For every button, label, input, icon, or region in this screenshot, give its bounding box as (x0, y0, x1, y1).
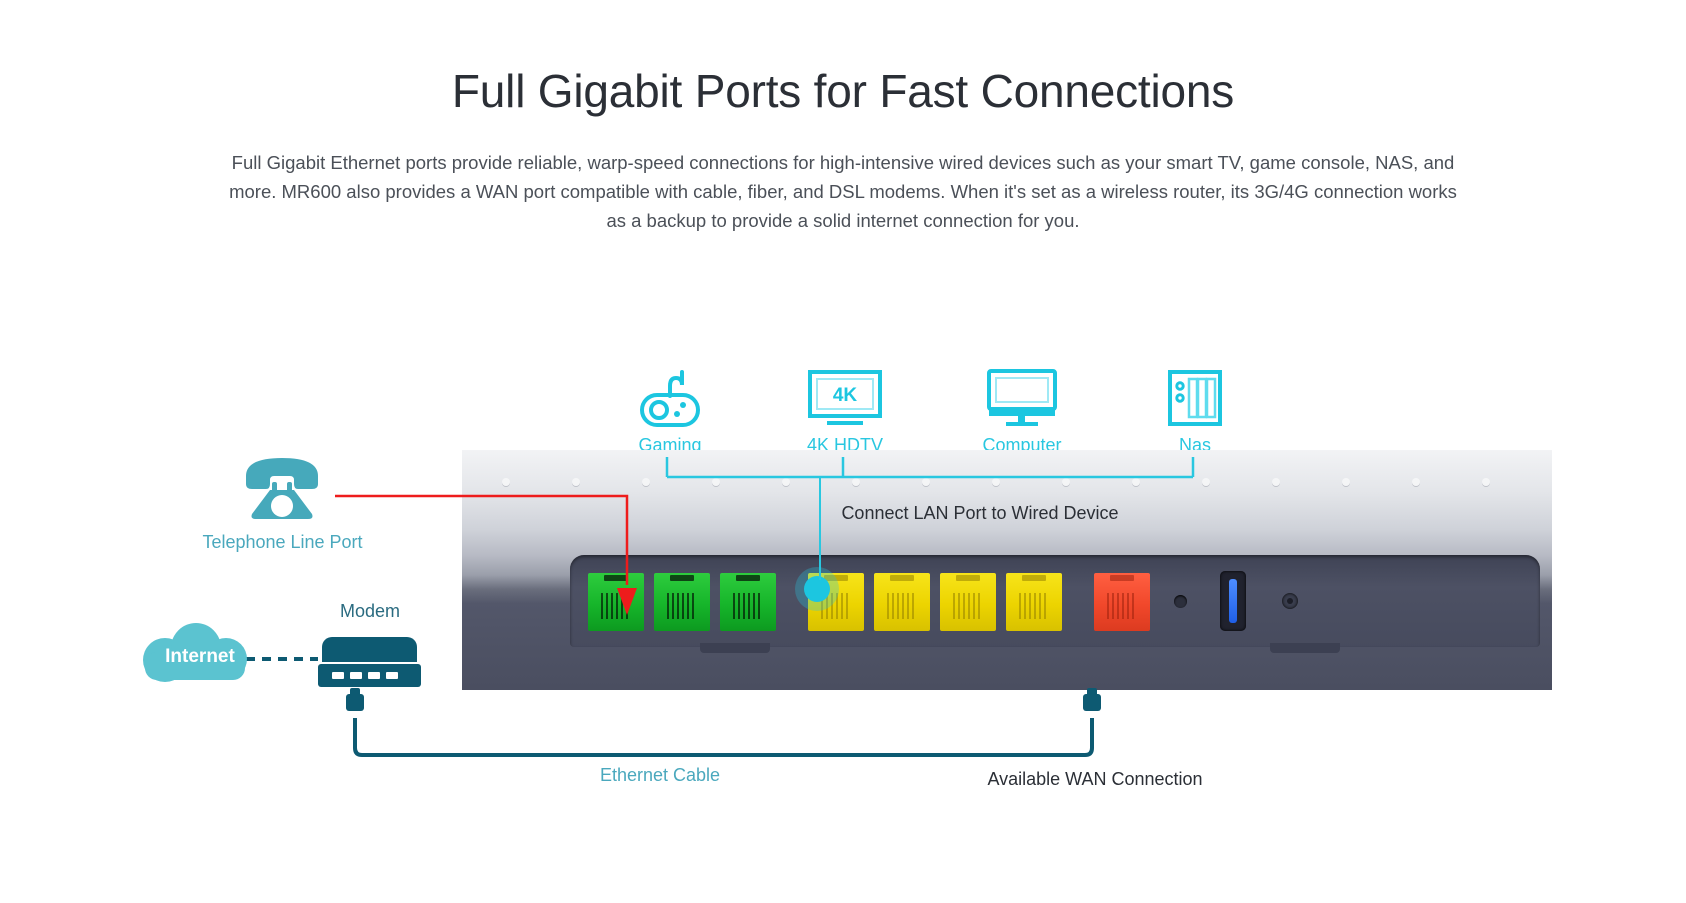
device-4k-hdtv: 4K 4K HDTV (775, 365, 915, 456)
monitor-icon (952, 365, 1092, 427)
lan-port-4[interactable] (1006, 573, 1062, 631)
device-gaming: Gaming (600, 365, 740, 456)
modem-label: Modem (300, 601, 440, 622)
nas-icon (1125, 365, 1265, 427)
page-title: Full Gigabit Ports for Fast Connections (0, 64, 1686, 118)
router-foot-left (700, 643, 770, 653)
telephone-port-1[interactable] (588, 573, 644, 631)
modem-device (318, 637, 421, 687)
router-device (462, 450, 1552, 690)
cable-plug-left (346, 688, 364, 711)
wps-button[interactable] (1174, 595, 1187, 608)
telephone-line-port-label: Telephone Line Port (160, 532, 405, 553)
gamepad-icon (600, 365, 740, 427)
internet-label: Internet (140, 646, 260, 668)
svg-text:4K: 4K (833, 385, 858, 406)
tv-4k-icon: 4K (775, 365, 915, 427)
wan-connection-label: Available WAN Connection (930, 769, 1260, 790)
ethernet-cable-label: Ethernet Cable (540, 765, 780, 786)
reset-button[interactable] (1282, 593, 1298, 609)
page-description: Full Gigabit Ethernet ports provide reli… (225, 148, 1461, 235)
usb-port[interactable] (1220, 571, 1246, 631)
lan-port-highlight (795, 567, 839, 611)
infographic-page: Full Gigabit Ports for Fast Connections … (0, 0, 1686, 903)
lan-connection-note: Connect LAN Port to Wired Device (760, 503, 1200, 524)
lan-port-3[interactable] (940, 573, 996, 631)
wan-port[interactable] (1094, 573, 1150, 631)
router-port-panel (570, 555, 1540, 647)
telephone-icon (240, 448, 324, 525)
telephone-port-3[interactable] (720, 573, 776, 631)
telephone-port-2[interactable] (654, 573, 710, 631)
device-nas: Nas (1125, 365, 1265, 456)
cable-plug-right (1083, 688, 1101, 711)
lan-port-2[interactable] (874, 573, 930, 631)
device-computer: Computer (952, 365, 1092, 456)
router-vent-dots (462, 478, 1552, 490)
router-foot-right (1270, 643, 1340, 653)
